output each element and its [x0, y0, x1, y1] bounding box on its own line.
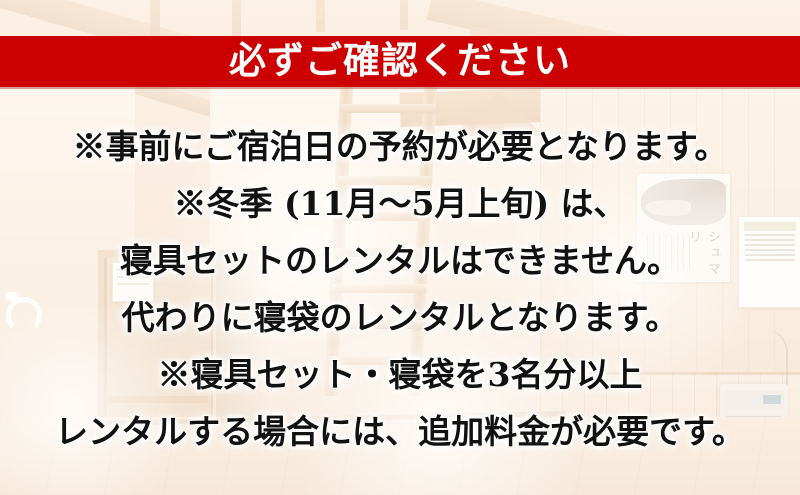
notice-line: 代わりに寝袋のレンタルとなります。 [122, 289, 679, 346]
notice-text-block: ※事前にご宿泊日の予約が必要となります。 ※冬季 (11月〜5月上旬) は、 寝… [0, 118, 800, 460]
notice-line: ※事前にご宿泊日の予約が必要となります。 [72, 118, 727, 175]
header-banner: 必ずご確認ください [0, 36, 800, 87]
notice-banner-image: シュマリ [0, 0, 800, 495]
banner-title: 必ずご確認ください [229, 42, 571, 79]
ladder-rung [341, 104, 436, 113]
ceiling-post [232, 0, 241, 36]
ceiling-post [316, 0, 325, 32]
notice-line: ※寝具セット・寝袋を3名分以上 [158, 346, 643, 403]
notice-line: ※冬季 (11月〜5月上旬) は、 [173, 175, 626, 232]
notice-line: 寝具セットのレンタルはできません。 [120, 232, 680, 289]
notice-line: レンタルする場合には、追加料金が必要です。 [55, 403, 745, 460]
ceiling-post [400, 0, 408, 30]
ceiling-post [150, 0, 160, 38]
